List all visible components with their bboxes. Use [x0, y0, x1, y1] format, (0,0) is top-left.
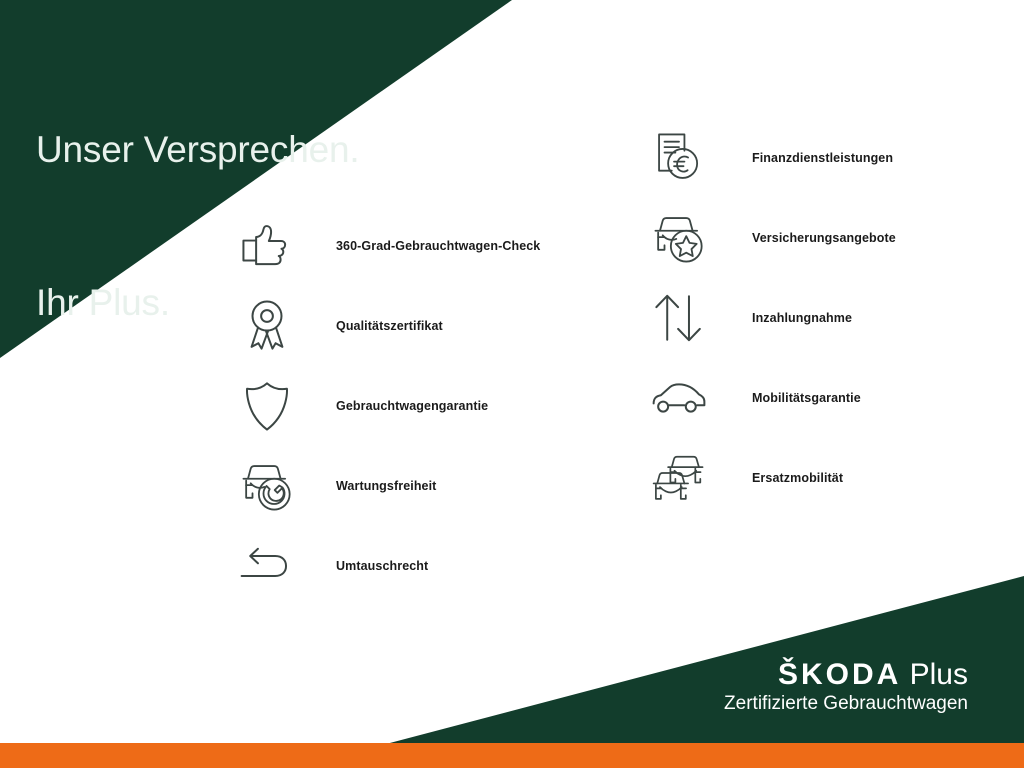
feature-item: Wartungsfreiheit [236, 446, 636, 526]
orange-footer-bar [0, 743, 1024, 768]
feature-item: Versicherungsangebote [648, 198, 1024, 278]
document-euro-icon [648, 127, 710, 189]
feature-label: Umtauschrecht [336, 559, 428, 573]
award-rosette-icon [236, 295, 298, 357]
feature-item: Inzahlungnahme [648, 278, 1024, 358]
feature-label: 360-Grad-Gebrauchtwagen-Check [336, 239, 540, 253]
feature-list-right: Finanzdienstleistungen Versicherungsange… [648, 118, 1024, 518]
car-wrench-icon [236, 455, 298, 517]
feature-item: Finanzdienstleistungen [648, 118, 1024, 198]
feature-item: Gebrauchtwagengarantie [236, 366, 636, 446]
thumbs-up-icon [236, 215, 298, 277]
feature-label: Gebrauchtwagengarantie [336, 399, 488, 413]
brand-name: ŠKODA [778, 658, 901, 691]
up-down-arrows-icon [648, 287, 710, 349]
feature-label: Wartungsfreiheit [336, 479, 436, 493]
feature-label: Qualitätszertifikat [336, 319, 443, 333]
brand-tagline: Zertifizierte Gebrauchtwagen [724, 692, 968, 716]
feature-item: Qualitätszertifikat [236, 286, 636, 366]
feature-item: Ersatzmobilität [648, 438, 1024, 518]
car-side-icon [648, 367, 710, 429]
brand-suffix: Plus [901, 658, 968, 691]
feature-label: Mobilitätsgarantie [752, 391, 861, 405]
two-cars-icon [648, 447, 710, 509]
feature-item: Mobilitätsgarantie [648, 358, 1024, 438]
car-star-icon [648, 207, 710, 269]
feature-label: Finanzdienstleistungen [752, 151, 893, 165]
feature-label: Versicherungsangebote [752, 231, 896, 245]
feature-list-left: 360-Grad-Gebrauchtwagen-Check Qualitätsz… [236, 206, 636, 606]
feature-item: 360-Grad-Gebrauchtwagen-Check [236, 206, 636, 286]
shield-icon [236, 375, 298, 437]
return-arrow-icon [236, 535, 298, 597]
feature-item: Umtauschrecht [236, 526, 636, 606]
brand-lockup: ŠKODA Plus Zertifizierte Gebrauchtwagen [724, 659, 968, 716]
page-title-line-1: Unser Versprechen. [36, 124, 359, 175]
feature-label: Ersatzmobilität [752, 471, 843, 485]
promotional-slide: Unser Versprechen. Ihr Plus. 360-Grad-Ge… [0, 0, 1024, 768]
feature-label: Inzahlungnahme [752, 311, 852, 325]
brand-name-row: ŠKODA Plus [724, 659, 968, 690]
